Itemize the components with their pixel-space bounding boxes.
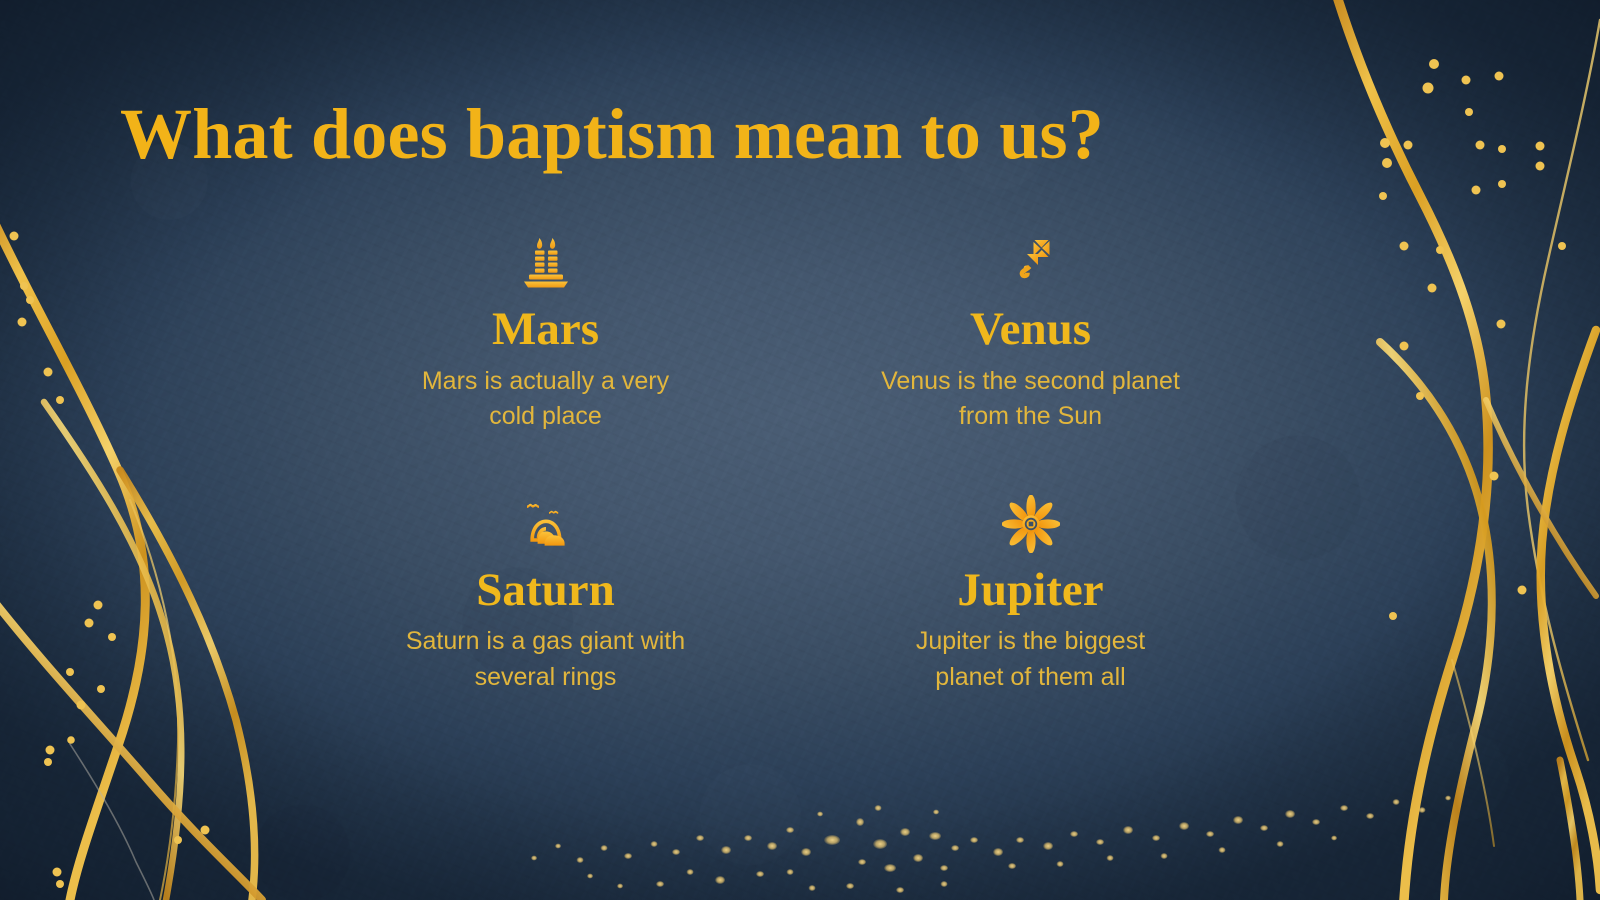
kite-icon: [1000, 232, 1062, 294]
feature-body: Saturn is a gas giant with several rings: [396, 624, 696, 695]
presentation-slide: What does baptism mean to us?: [0, 0, 1600, 900]
feature-body: Venus is the second planet from the Sun: [881, 364, 1181, 435]
flower-icon: [1000, 493, 1062, 555]
feature-body: Jupiter is the biggest planet of them al…: [881, 624, 1181, 695]
features-row-bottom: Saturn Saturn is a gas giant with severa…: [303, 493, 1273, 696]
page-title: What does baptism mean to us?: [120, 97, 1104, 173]
feature-heading: Saturn: [476, 565, 614, 617]
sunrise-hills-icon: [515, 493, 577, 555]
feature-heading: Venus: [970, 304, 1091, 356]
slide-content: What does baptism mean to us?: [0, 0, 1600, 900]
feature-card-jupiter[interactable]: Jupiter Jupiter is the biggest planet of…: [788, 493, 1273, 696]
feature-card-mars[interactable]: Mars Mars is actually a very cold place: [303, 232, 788, 435]
feature-heading: Mars: [492, 304, 599, 356]
features-row-top: Mars Mars is actually a very cold place: [303, 232, 1273, 435]
candles-icon: [515, 232, 577, 294]
feature-body: Mars is actually a very cold place: [396, 364, 696, 435]
feature-card-saturn[interactable]: Saturn Saturn is a gas giant with severa…: [303, 493, 788, 696]
feature-card-venus[interactable]: Venus Venus is the second planet from th…: [788, 232, 1273, 435]
features-grid: Mars Mars is actually a very cold place: [303, 232, 1273, 695]
feature-heading: Jupiter: [957, 565, 1103, 617]
